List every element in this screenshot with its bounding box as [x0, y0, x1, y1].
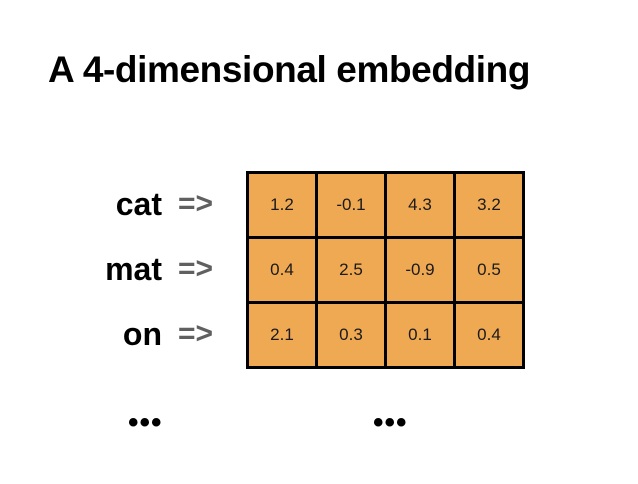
matrix-cell: 3.2 [455, 173, 524, 238]
matrix-cell: -0.1 [317, 173, 386, 238]
matrix-cell: -0.9 [386, 238, 455, 303]
matrix-cell: 0.3 [317, 303, 386, 368]
matrix-cell: 0.4 [455, 303, 524, 368]
table-row: 2.1 0.3 0.1 0.4 [248, 303, 524, 368]
matrix-cell: 2.5 [317, 238, 386, 303]
word-row-cat: cat => [36, 171, 232, 236]
embedding-illustration: cat => mat => on => 1.2 -0.1 4.3 3.2 [0, 163, 638, 373]
ellipsis-matrix: ••• [373, 408, 408, 438]
embedding-matrix: 1.2 -0.1 4.3 3.2 0.4 2.5 -0.9 0.5 2.1 0.… [246, 171, 525, 369]
matrix-cell: 1.2 [248, 173, 317, 238]
matrix-cell: 4.3 [386, 173, 455, 238]
word-row-mat: mat => [36, 236, 232, 301]
matrix-cell: 0.5 [455, 238, 524, 303]
maps-to-arrow-icon: => [178, 254, 232, 284]
page-title: A 4-dimensional embedding [48, 48, 604, 92]
word-label-cat: cat [116, 188, 162, 220]
word-row-on: on => [36, 301, 232, 366]
matrix-cell: 2.1 [248, 303, 317, 368]
embedding-matrix-wrapper: 1.2 -0.1 4.3 3.2 0.4 2.5 -0.9 0.5 2.1 0.… [246, 171, 525, 369]
maps-to-arrow-icon: => [178, 319, 232, 349]
matrix-cell: 0.1 [386, 303, 455, 368]
table-row: 0.4 2.5 -0.9 0.5 [248, 238, 524, 303]
word-label-mat: mat [105, 253, 162, 285]
word-label-column: cat => mat => on => [36, 171, 232, 366]
table-row: 1.2 -0.1 4.3 3.2 [248, 173, 524, 238]
maps-to-arrow-icon: => [178, 189, 232, 219]
slide-canvas: A 4-dimensional embedding cat => mat => … [0, 0, 638, 484]
word-label-on: on [123, 318, 162, 350]
matrix-cell: 0.4 [248, 238, 317, 303]
ellipsis-words: ••• [128, 408, 163, 438]
